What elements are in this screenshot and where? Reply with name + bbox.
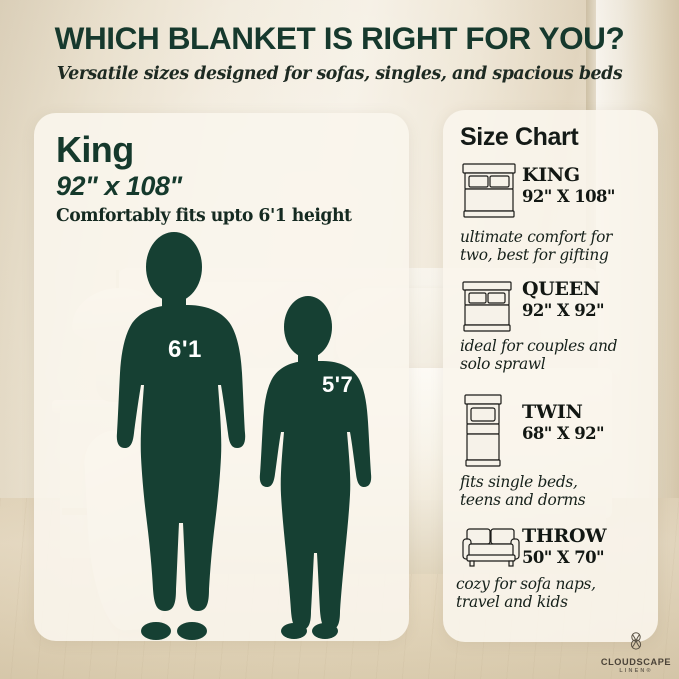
size-dims-twin: 68" X 92"	[522, 424, 604, 443]
brand-lockup: CLOUDSCAPE LINEN®	[598, 630, 674, 674]
size-dims-king: 92" X 108"	[522, 187, 615, 206]
size-chart-row-throw[interactable]: THROW 50" X 70" cozy for sofa naps, trav…	[443, 525, 658, 573]
silhouettes-svg	[34, 231, 409, 641]
size-dims-throw: 50" X 70"	[522, 548, 606, 567]
queen-bed-icon	[461, 280, 513, 339]
king-showcase-card: King 92" x 108" Comfortably fits upto 6'…	[34, 113, 409, 641]
size-desc-twin: fits single beds, teens and dorms	[460, 473, 585, 509]
size-name-twin: TWIN	[522, 403, 604, 423]
size-dims-queen: 92" X 92"	[522, 301, 604, 320]
male-silhouette	[117, 232, 245, 640]
brand-name: CLOUDSCAPE	[598, 657, 674, 667]
size-name-queen: QUEEN	[522, 280, 604, 300]
twin-bed-icon	[461, 393, 511, 474]
cloudscape-infinity-logo	[625, 630, 647, 652]
size-name-throw: THROW	[522, 527, 606, 547]
poster-header: WHICH BLANKET IS RIGHT FOR YOU? Versatil…	[0, 0, 679, 84]
size-chart-row-king[interactable]: KING 92" X 108" ultimate comfort for two…	[443, 162, 658, 224]
brand-tagline: LINEN®	[598, 668, 674, 674]
size-desc-throw: cozy for sofa naps, travel and kids	[456, 575, 596, 611]
size-desc-queen: ideal for couples and solo sprawl	[460, 337, 617, 373]
male-height-label: 6'1	[168, 336, 202, 364]
size-chart-title: Size Chart	[460, 123, 578, 152]
page-subtitle: Versatile sizes designed for sofas, sing…	[16, 64, 663, 84]
size-desc-king: ultimate comfort for two, best for gifti…	[460, 228, 612, 264]
female-silhouette	[260, 296, 371, 639]
size-chart-row-twin[interactable]: TWIN 68" X 92" fits single beds, teens a…	[443, 393, 658, 455]
size-chart-card: Size Chart	[443, 110, 658, 642]
female-height-label: 5'7	[322, 372, 353, 398]
sofa-icon	[461, 525, 523, 574]
king-size-dimensions: 92" x 108"	[56, 171, 182, 202]
king-size-name: King	[56, 129, 134, 171]
size-name-king: KING	[522, 166, 615, 186]
infographic-poster: WHICH BLANKET IS RIGHT FOR YOU? Versatil…	[0, 0, 679, 679]
king-fit-note: Comfortably fits upto 6'1 height	[56, 206, 352, 226]
size-chart-row-queen[interactable]: QUEEN 92" X 92" ideal for couples and so…	[443, 280, 658, 342]
page-title: WHICH BLANKET IS RIGHT FOR YOU?	[16, 20, 663, 57]
height-comparison-figures: 6'1 5'7	[34, 231, 409, 641]
king-bed-icon	[461, 162, 517, 225]
